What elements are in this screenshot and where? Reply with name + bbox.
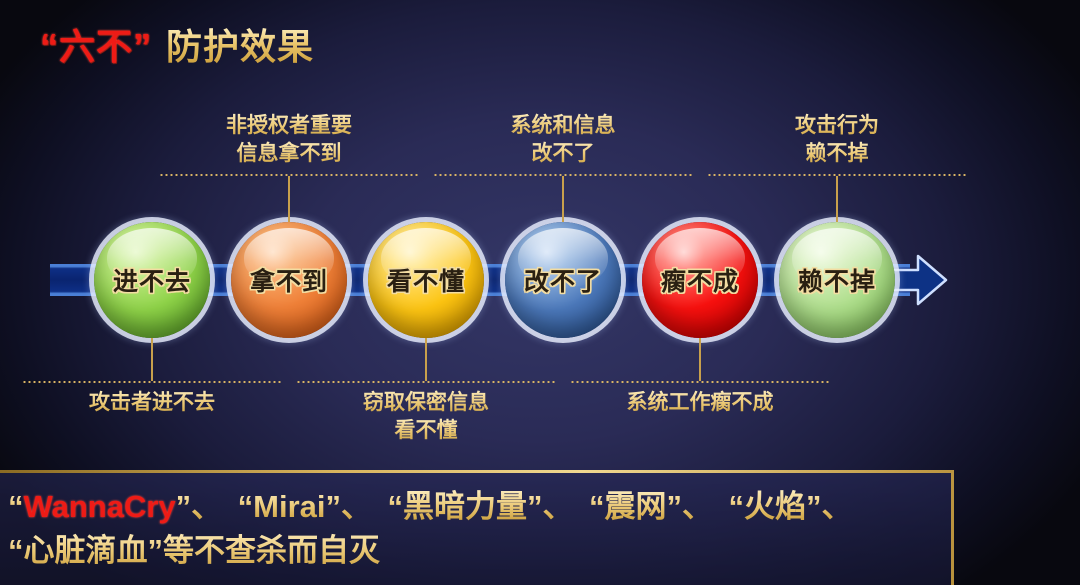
callout-dotted-rule xyxy=(22,381,282,383)
flow-node-label: 赖不掉 xyxy=(779,222,895,338)
page-title: “六不”防护效果 xyxy=(40,18,314,70)
callout-bottom-3: 系统工作瘸不成 xyxy=(570,381,830,417)
callout-top-3-line-1: 攻击行为 xyxy=(707,112,967,140)
callout-top-3: 攻击行为赖不掉 xyxy=(707,112,967,176)
callout-dotted-rule xyxy=(570,381,830,383)
callout-bottom-3-line-1: 系统工作瘸不成 xyxy=(570,389,830,417)
callout-top-1-line-1: 非授权者重要 xyxy=(159,112,419,140)
flow-node-2[interactable]: 拿不到 xyxy=(231,222,347,338)
callout-connector-line xyxy=(562,176,564,222)
flow-node-5[interactable]: 瘸不成 xyxy=(642,222,758,338)
callout-top-2-line-1: 系统和信息 xyxy=(433,112,693,140)
flow-node-label: 看不懂 xyxy=(368,222,484,338)
malware-examples-panel: “WannaCry”、 “Mirai”、 “黑暗力量”、 “震网”、 “火焰”、… xyxy=(0,470,954,585)
malware-example-part-1: “ xyxy=(8,489,24,524)
callout-bottom-2-line-2: 看不懂 xyxy=(296,417,556,445)
flow-node-1[interactable]: 进不去 xyxy=(94,222,210,338)
page-title-rest: 防护效果 xyxy=(166,26,314,67)
callout-bottom-2: 窃取保密信息看不懂 xyxy=(296,381,556,445)
flow-node-6[interactable]: 赖不掉 xyxy=(779,222,895,338)
malware-example-part-3: ”、 “Mirai”、 “黑暗力量”、 “震网”、 “火焰”、 xyxy=(176,489,853,524)
callout-top-1: 非授权者重要信息拿不到 xyxy=(159,112,419,176)
callout-top-2: 系统和信息改不了 xyxy=(433,112,693,176)
flow-node-label: 进不去 xyxy=(94,222,210,338)
callout-top-1-line-2: 信息拿不到 xyxy=(159,140,419,168)
callout-connector-line xyxy=(836,176,838,222)
callout-bottom-1: 攻击者进不去 xyxy=(22,381,282,417)
page-title-quoted: “六不” xyxy=(40,26,152,67)
callout-bottom-1-line-1: 攻击者进不去 xyxy=(22,389,282,417)
callout-connector-line xyxy=(288,176,290,222)
flow-node-label: 拿不到 xyxy=(231,222,347,338)
flow-node-4[interactable]: 改不了 xyxy=(505,222,621,338)
flow-node-label: 改不了 xyxy=(505,222,621,338)
flow-node-label: 瘸不成 xyxy=(642,222,758,338)
callout-top-2-line-2: 改不了 xyxy=(433,140,693,168)
malware-example-part-2: WannaCry xyxy=(24,489,176,524)
callout-dotted-rule xyxy=(296,381,556,383)
slide-canvas: “六不”防护效果 进不去拿不到看不懂改不了瘸不成赖不掉 非授权者重要信息拿不到系… xyxy=(0,0,1080,585)
flow-node-3[interactable]: 看不懂 xyxy=(368,222,484,338)
malware-examples-line-2: “心脏滴血”等不查杀而自灭 xyxy=(8,529,951,573)
callout-bottom-2-line-1: 窃取保密信息 xyxy=(296,389,556,417)
callout-connector-line xyxy=(699,338,701,381)
malware-examples-line-1: “WannaCry”、 “Mirai”、 “黑暗力量”、 “震网”、 “火焰”、 xyxy=(8,485,951,529)
callout-connector-line xyxy=(425,338,427,381)
callout-top-3-line-2: 赖不掉 xyxy=(707,140,967,168)
callout-connector-line xyxy=(151,338,153,381)
